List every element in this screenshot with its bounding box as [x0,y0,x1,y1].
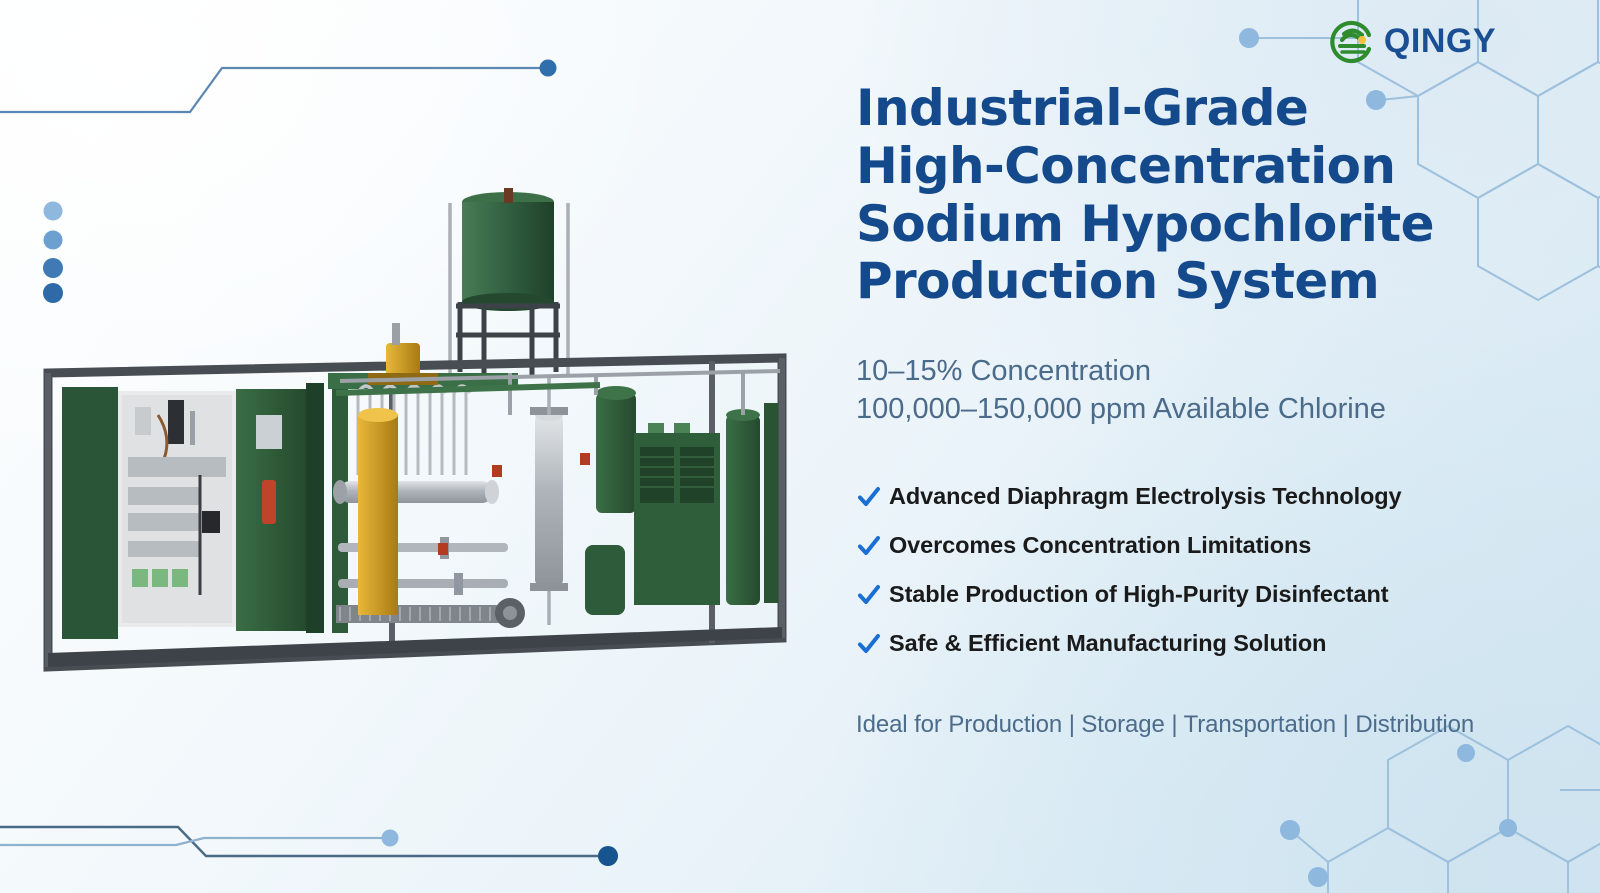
qingy-leaf-circle-logo-icon [1329,18,1375,64]
condenser-column [495,375,568,628]
check-mark-icon [856,533,882,559]
process-vessels [585,386,778,615]
list-item: Advanced Diaphragm Electrolysis Technolo… [856,472,1546,521]
list-item: Overcomes Concentration Limitations [856,521,1546,570]
content-column: QINGY Industrial-Grade High-Concentratio… [848,0,1548,893]
storage-tank [450,188,568,375]
subtitle-line-2: 100,000–150,000 ppm Available Chlorine [856,390,1546,428]
subtitle-line-1: 10–15% Concentration [856,352,1546,390]
check-mark-icon [856,484,882,510]
headline-line-3: Sodium Hypochlorite [856,196,1546,254]
headline-line-4: Production System [856,253,1546,311]
feature-label: Stable Production of High-Purity Disinfe… [889,581,1388,608]
list-item: Stable Production of High-Purity Disinfe… [856,570,1546,619]
headline-line-2: High-Concentration [856,138,1546,196]
product-image [40,175,830,695]
valves [438,453,590,555]
subtitle: 10–15% Concentration 100,000–150,000 ppm… [856,352,1546,429]
list-item: Safe & Efficient Manufacturing Solution [856,619,1546,668]
feature-list: Advanced Diaphragm Electrolysis Technolo… [856,472,1546,668]
check-mark-icon [856,582,882,608]
feature-label: Safe & Efficient Manufacturing Solution [889,630,1326,657]
feature-label: Overcomes Concentration Limitations [889,532,1311,559]
page-title: Industrial-Grade High-Concentration Sodi… [856,80,1546,311]
headline-line-1: Industrial-Grade [856,80,1546,138]
brand-wordmark: QINGY [1384,24,1496,58]
check-mark-icon [856,631,882,657]
control-cabinet [62,383,324,639]
feature-label: Advanced Diaphragm Electrolysis Technolo… [889,483,1402,510]
promotional-banner: QINGY Industrial-Grade High-Concentratio… [0,0,1600,893]
electrolysis-cell-stack [328,373,518,633]
brand-logo[interactable]: QINGY [1329,18,1496,64]
footer-tagline: Ideal for Production | Storage | Transpo… [856,711,1556,739]
